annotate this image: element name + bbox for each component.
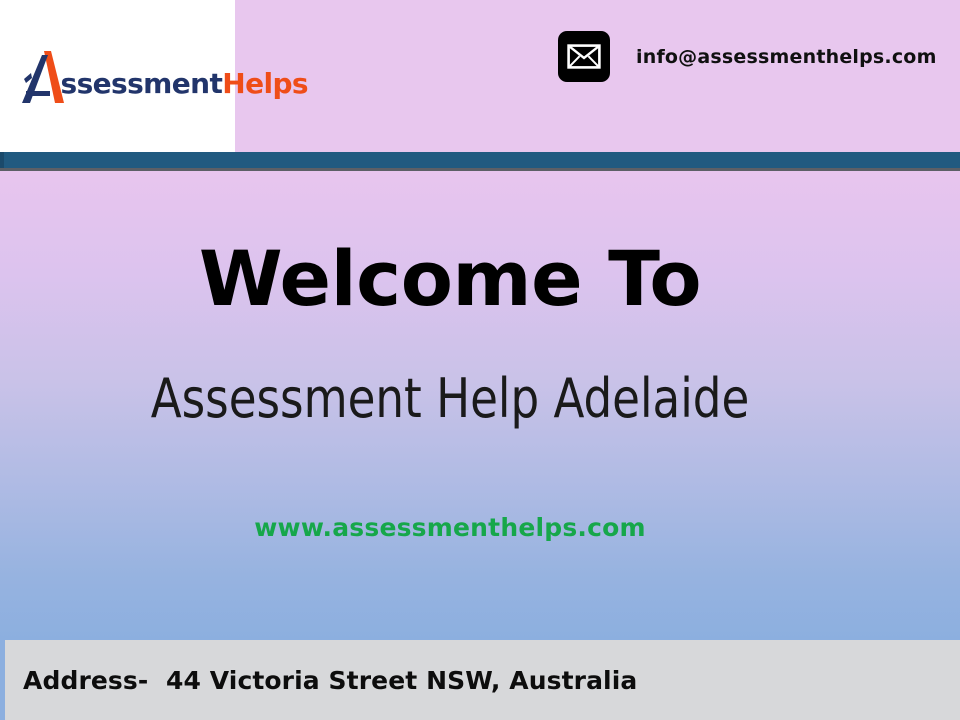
assessmenthelps-logo[interactable]: ssessmentHelps	[20, 47, 216, 105]
main-content-area: Welcome To Assessment Help Adelaide www.…	[0, 171, 960, 640]
address-text: Address- 44 Victoria Street NSW, Austral…	[23, 666, 637, 695]
header-divider-bar	[0, 152, 960, 168]
email-address-text[interactable]: info@assessmenthelps.com	[636, 46, 937, 68]
website-url[interactable]: www.assessmenthelps.com	[0, 515, 900, 540]
logo-container[interactable]: ssessmentHelps	[0, 0, 235, 152]
slide-root: ssessmentHelps info@assessmenthelps.com …	[0, 0, 960, 720]
envelope-icon[interactable]	[558, 31, 610, 82]
contact-email-row[interactable]: info@assessmenthelps.com	[558, 31, 937, 82]
page-subtitle: Assessment Help Adelaide	[32, 372, 869, 426]
footer-address-bar: Address- 44 Victoria Street NSW, Austral…	[0, 640, 960, 720]
page-title: Welcome To	[0, 241, 900, 317]
logo-wordmark: ssessmentHelps	[61, 70, 308, 105]
logo-word-helps: Helps	[222, 67, 308, 100]
logo-a-mark-icon	[20, 49, 66, 105]
logo-word-assessment: ssessment	[61, 67, 223, 100]
